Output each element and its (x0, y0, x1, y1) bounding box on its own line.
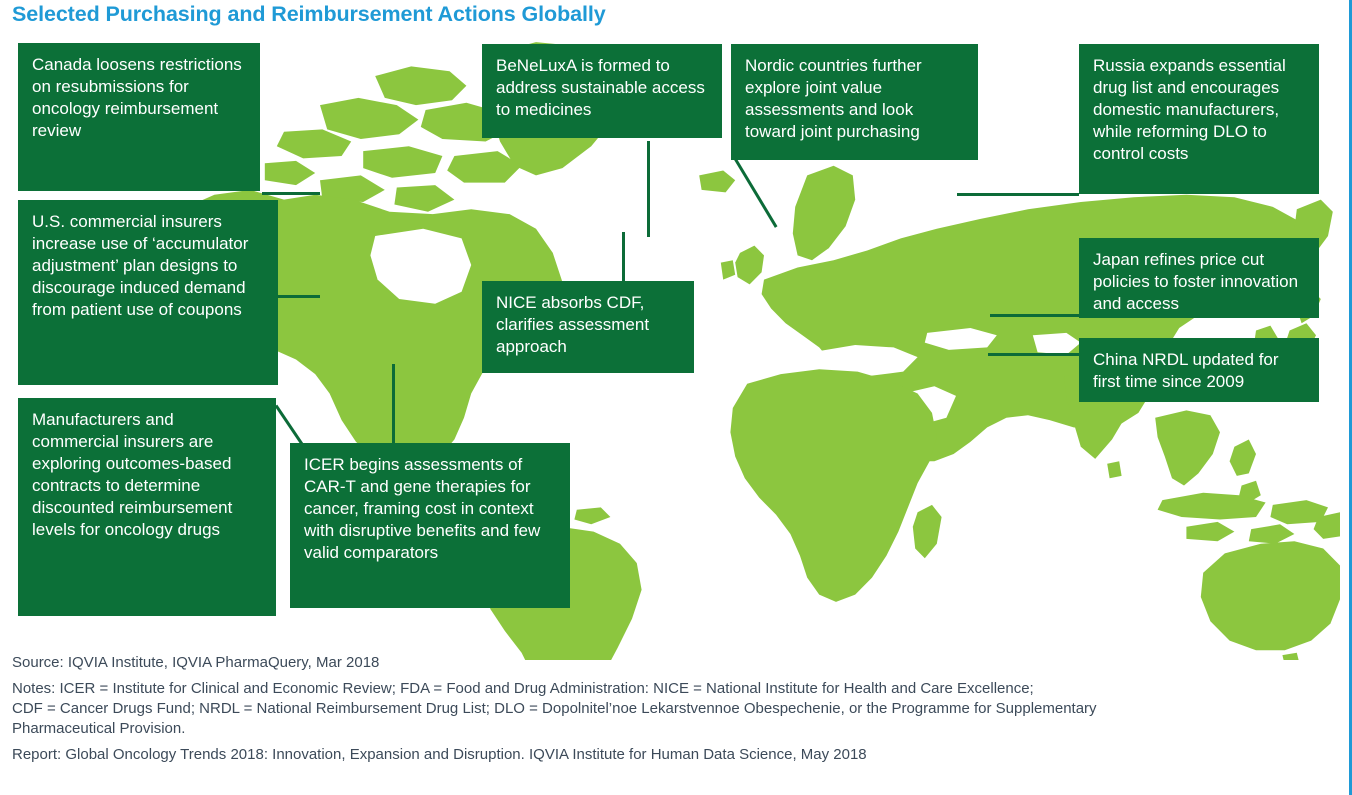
callout-icer-car-t[interactable]: ICER begins assessments of CAR-T and gen… (290, 443, 570, 608)
connector-china (988, 353, 1080, 356)
footer-notes: Source: IQVIA Institute, IQVIA PharmaQue… (12, 655, 1342, 773)
connector-japan (990, 314, 1080, 317)
callout-manufacturers-outcomes-contracts[interactable]: Manufacturers and commercial insurers ar… (18, 398, 276, 616)
footer-notes-line-3: Pharmaceutical Provision. (12, 721, 1342, 736)
connector-russia (957, 193, 1079, 196)
callout-canada[interactable]: Canada loosens restrictions on resubmiss… (18, 43, 260, 191)
connector-icer (392, 364, 395, 450)
callout-russia[interactable]: Russia expands essential drug list and e… (1079, 44, 1319, 194)
footer-notes-line-1: Notes: ICER = Institute for Clinical and… (12, 681, 1342, 696)
callout-us-commercial-insurers[interactable]: U.S. commercial insurers increase use of… (18, 200, 278, 385)
connector-nice (622, 232, 625, 284)
callout-nice-cdf[interactable]: NICE absorbs CDF, clarifies assessment a… (482, 281, 694, 373)
callout-japan[interactable]: Japan refines price cut policies to fost… (1079, 238, 1319, 318)
callout-nordic[interactable]: Nordic countries further explore joint v… (731, 44, 978, 160)
callout-china[interactable]: China NRDL updated for first time since … (1079, 338, 1319, 402)
footer-report: Report: Global Oncology Trends 2018: Inn… (12, 747, 1342, 762)
footer-source: Source: IQVIA Institute, IQVIA PharmaQue… (12, 655, 1342, 670)
connector-beneluxa (647, 141, 650, 237)
callout-beneluxa[interactable]: BeNeLuxA is formed to address sustainabl… (482, 44, 722, 138)
page-title: Selected Purchasing and Reimbursement Ac… (12, 2, 606, 27)
footer-notes-line-2: CDF = Cancer Drugs Fund; NRDL = National… (12, 701, 1342, 716)
connector-canada (262, 192, 320, 195)
